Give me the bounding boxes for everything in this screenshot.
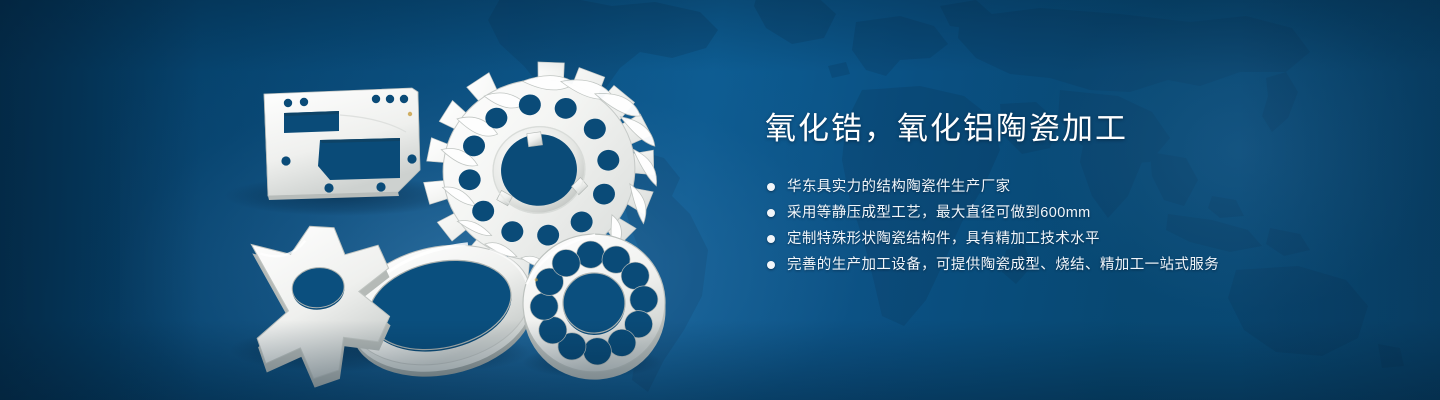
feature-bullet-3: 定制特殊形状陶瓷结构件，具有精加工技术水平 xyxy=(767,228,1385,250)
feature-bullet-2-text: 采用等静压成型工艺，最大直径可做到600mm xyxy=(787,202,1091,224)
feature-bullet-2: 采用等静压成型工艺，最大直径可做到600mm xyxy=(767,202,1385,224)
feature-bullet-1: 华东具实力的结构陶瓷件生产厂家 xyxy=(767,176,1385,198)
feature-bullet-4-text: 完善的生产加工设备，可提供陶瓷成型、烧结、精加工一站式服务 xyxy=(787,254,1219,276)
product-photo-group xyxy=(0,0,740,400)
bullet-dot-icon xyxy=(767,209,775,217)
banner-text-block: 氧化锆，氧化铝陶瓷加工 华东具实力的结构陶瓷件生产厂家 采用等静压成型工艺，最大… xyxy=(765,108,1385,280)
feature-bullet-3-text: 定制特殊形状陶瓷结构件，具有精加工技术水平 xyxy=(787,228,1100,250)
feature-bullet-1-text: 华东具实力的结构陶瓷件生产厂家 xyxy=(787,176,1011,198)
feature-bullet-list: 华东具实力的结构陶瓷件生产厂家 采用等静压成型工艺，最大直径可做到600mm 定… xyxy=(767,176,1385,276)
bullet-dot-icon xyxy=(767,183,775,191)
promo-banner: 氧化锆，氧化铝陶瓷加工 华东具实力的结构陶瓷件生产厂家 采用等静压成型工艺，最大… xyxy=(0,0,1440,400)
bullet-dot-icon xyxy=(767,261,775,269)
ceramic-flat-plate xyxy=(264,88,420,200)
banner-headline: 氧化锆，氧化铝陶瓷加工 xyxy=(765,108,1385,150)
bullet-dot-icon xyxy=(767,235,775,243)
feature-bullet-4: 完善的生产加工设备，可提供陶瓷成型、烧结、精加工一站式服务 xyxy=(767,254,1385,276)
